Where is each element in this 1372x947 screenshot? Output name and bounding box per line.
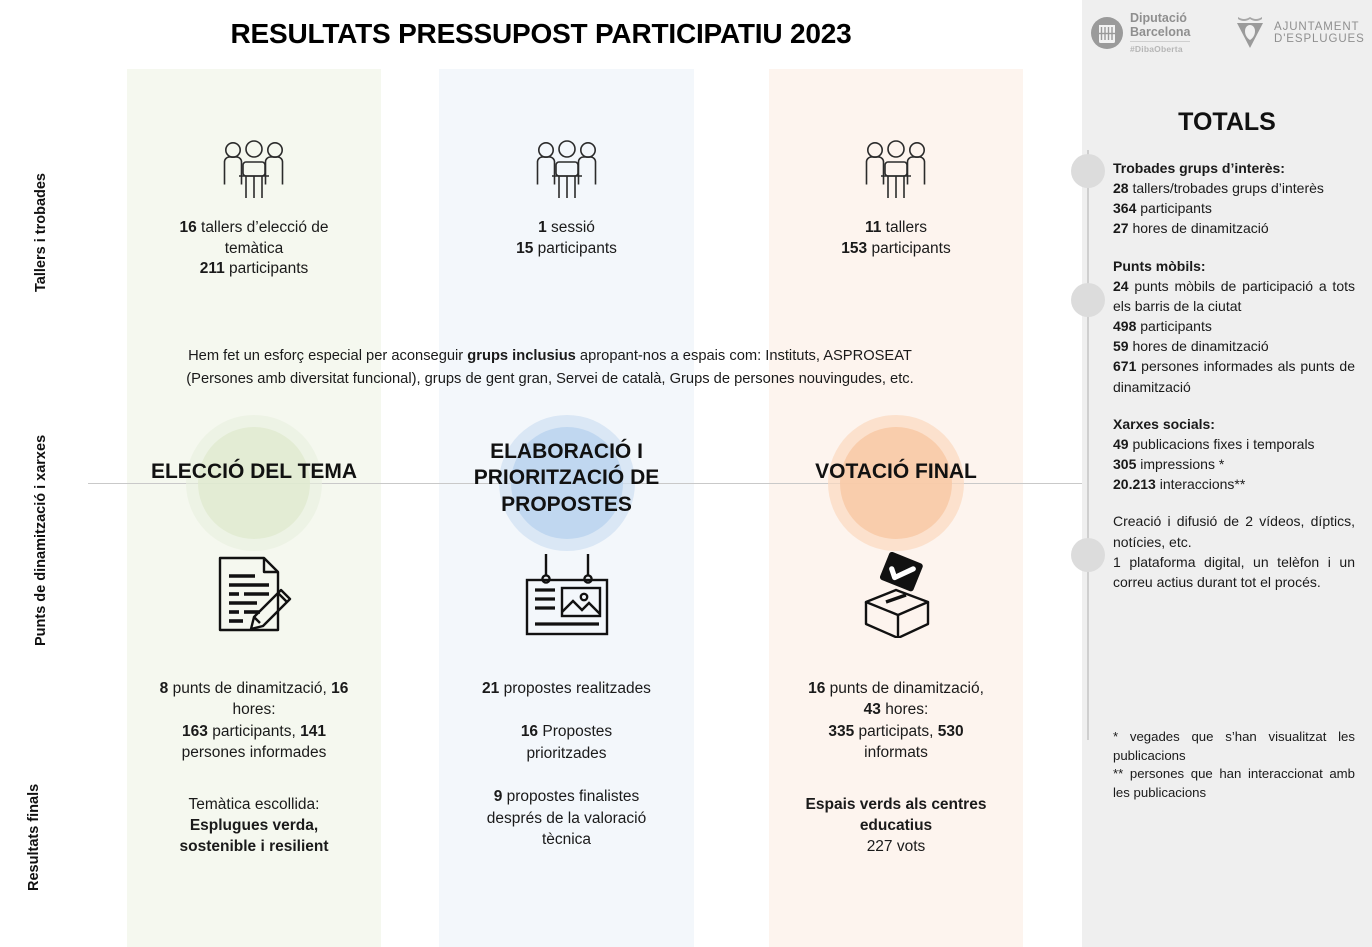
result-label: 227 vots: [867, 838, 926, 855]
result-label: hores:: [232, 701, 275, 718]
totals-block-heading: Xarxes socials:: [1113, 414, 1355, 434]
stage-icon-wrap-elaboracio-propostes: [439, 552, 694, 643]
note-text-pre: Hem fet un esforç especial per aconsegui…: [188, 348, 467, 364]
inclusive-groups-note: Hem fet un esforç especial per aconsegui…: [110, 345, 990, 391]
stage-icon-wrap-votacio-final: [769, 552, 1023, 643]
stage-top-stats-text: 11 tallers 153 participants: [769, 218, 1023, 259]
totals-value: 59: [1113, 338, 1129, 354]
three-people-icon: [532, 140, 602, 204]
result-value: Esplugues verda,: [190, 817, 318, 834]
totals-block-heading: Trobades grups d’interès:: [1113, 158, 1355, 178]
stage-icon-wrap-eleccio-tema: [127, 552, 381, 641]
billboard-image-icon: [521, 552, 613, 638]
totals-title: TOTALS: [1082, 108, 1372, 137]
totals-block-xarxes-socials: Xarxes socials: 49 publicacions fixes i …: [1113, 414, 1355, 495]
totals-line: 59 hores de dinamització: [1113, 336, 1355, 356]
totals-timeline-line: [1087, 150, 1089, 740]
totals-label: publicacions fixes i temporals: [1129, 436, 1315, 452]
footnote-double-asterisk: ** persones que han interaccionat amb le…: [1113, 765, 1355, 802]
result-value: 8: [160, 680, 169, 697]
result-value: 530: [938, 723, 964, 740]
result-label: propostes realitzades: [499, 680, 651, 697]
stage-heading-elaboracio-propostes: ELABORACIÓ I PRIORITZACIÓ DE PROPOSTES: [439, 439, 694, 518]
stat-value: 11: [865, 219, 881, 236]
totals-block-punts-mobils: Punts mòbils: 24 punts mòbils de partici…: [1113, 256, 1355, 397]
result-value: 16: [331, 680, 348, 697]
totals-label: persones informades als punts de dinamit…: [1113, 358, 1355, 394]
stat-label: sessió: [547, 219, 595, 236]
logo-ajuntament-esplugues: AJUNTAMENT D'ESPLUGUES: [1232, 14, 1365, 52]
totals-line: 49 publicacions fixes i temporals: [1113, 434, 1355, 454]
stat-value: 1: [538, 219, 547, 236]
result-label: propostes finalistes: [502, 788, 639, 805]
result-value: 16: [808, 680, 825, 697]
result-label: participants,: [208, 723, 300, 740]
stat-label: participants: [867, 240, 951, 257]
stat-label: participants: [225, 260, 309, 277]
stage-heading-eleccio-tema: ELECCIÓ DEL TEMA: [127, 459, 381, 485]
totals-line: 24 punts mòbils de participació a tots e…: [1113, 276, 1355, 316]
stage-marker-eleccio-tema: ELECCIÓ DEL TEMA: [127, 413, 381, 553]
timeline-dot-3: [1071, 538, 1105, 572]
result-label: Temàtica escollida:: [189, 796, 320, 813]
stage-results-eleccio-tema: 8 punts de dinamització, 16 hores: 163 p…: [127, 678, 381, 858]
footnote-single-asterisk: * vegades que s’han visualitzat les publ…: [1113, 728, 1355, 765]
totals-line: 27 hores de dinamització: [1113, 218, 1355, 238]
totals-value: 305: [1113, 456, 1136, 472]
result-value: 21: [482, 680, 499, 697]
totals-block-difusio: Creació i difusió de 2 vídeos, díptics, …: [1113, 511, 1355, 592]
esplugues-crest-icon: [1232, 14, 1268, 52]
totals-block-heading: Punts mòbils:: [1113, 256, 1355, 276]
stat-value: 153: [841, 240, 867, 257]
totals-label: hores de dinamització: [1129, 338, 1269, 354]
result-value: educatius: [860, 817, 932, 834]
totals-label: tallers/trobades grups d’interès: [1129, 180, 1324, 196]
totals-line: 305 impressions *: [1113, 454, 1355, 474]
totals-line: 20.213 interaccions**: [1113, 474, 1355, 494]
result-value: 43: [864, 701, 881, 718]
note-text-post: apropant-nos a espais com: Instituts, AS…: [576, 348, 912, 364]
totals-value: 49: [1113, 436, 1129, 452]
result-value: Espais verds als centres: [806, 796, 987, 813]
three-people-icon: [861, 140, 931, 204]
logo-line-2: D'ESPLUGUES: [1274, 33, 1365, 45]
row-label-punts-dinamitzacio: Punts de dinamització i xarxes: [33, 410, 50, 670]
timeline-dot-1: [1071, 154, 1105, 188]
spacer: [463, 764, 670, 786]
document-pencil-icon: [210, 552, 298, 636]
logo-tagline: #DibaOberta: [1130, 41, 1190, 54]
totals-label: participants: [1136, 200, 1211, 216]
result-value: 141: [300, 723, 326, 740]
result-value: sostenible i resilient: [179, 838, 328, 855]
totals-value: 28: [1113, 180, 1129, 196]
totals-line: 364 participants: [1113, 198, 1355, 218]
spacer: [793, 764, 999, 794]
stage-marker-elaboracio-propostes: ELABORACIÓ I PRIORITZACIÓ DE PROPOSTES: [439, 413, 694, 553]
result-label: informats: [864, 744, 928, 761]
stage-top-elaboracio-propostes: 1 sessió 15 participants: [439, 140, 694, 259]
stage-marker-votacio-final: VOTACIÓ FINAL: [769, 413, 1023, 553]
totals-label: participants: [1136, 318, 1211, 334]
page-title: RESULTATS PRESSUPOST PARTICIPATIU 2023: [0, 18, 1082, 50]
totals-label: punts mòbils de participació a tots els …: [1113, 278, 1355, 314]
three-people-icon: [219, 140, 289, 204]
totals-label: impressions *: [1136, 456, 1224, 472]
totals-value: 20.213: [1113, 476, 1156, 492]
note-text-line2: (Persones amb diversitat funcional), gru…: [186, 371, 913, 387]
result-value: 335: [828, 723, 854, 740]
spacer: [463, 699, 670, 721]
totals-line: Creació i difusió de 2 vídeos, díptics, …: [1113, 511, 1355, 551]
totals-block-trobades: Trobades grups d’interès: 28 tallers/tro…: [1113, 158, 1355, 239]
logo-line-2: Barcelona: [1130, 26, 1190, 40]
note-text-bold: grups inclusius: [467, 348, 576, 364]
stage-results-votacio-final: 16 punts de dinamització, 43 hores: 335 …: [769, 678, 1023, 858]
stage-top-stats-text: 16 tallers d’elecció de temàtica 211 par…: [127, 218, 381, 280]
totals-line: 1 plataforma digital, un telèfon i un co…: [1113, 552, 1355, 592]
result-label: persones informades: [182, 744, 327, 761]
logo-ajuntament-text: AJUNTAMENT D'ESPLUGUES: [1274, 21, 1365, 46]
stat-label: temàtica: [225, 240, 284, 257]
result-value: 163: [182, 723, 208, 740]
totals-value: 24: [1113, 278, 1129, 294]
result-label: Propostes: [538, 723, 612, 740]
result-label: punts de dinamització,: [168, 680, 331, 697]
stat-label: tallers: [881, 219, 927, 236]
stage-results-elaboracio-propostes: 21 propostes realitzades 16 Propostes pr…: [439, 678, 694, 850]
timeline-dot-2: [1071, 283, 1105, 317]
totals-label: interaccions**: [1156, 476, 1246, 492]
stat-label: tallers d’elecció de: [197, 219, 329, 236]
diputacio-crest-icon: [1090, 16, 1124, 50]
stage-top-votacio-final: 11 tallers 153 participants: [769, 140, 1023, 259]
result-label: participats,: [854, 723, 938, 740]
spacer: [147, 764, 361, 794]
totals-content: Trobades grups d’interès: 28 tallers/tro…: [1113, 158, 1355, 609]
stage-heading-votacio-final: VOTACIÓ FINAL: [769, 459, 1023, 485]
totals-value: 498: [1113, 318, 1136, 334]
totals-line: 671 persones informades als punts de din…: [1113, 356, 1355, 396]
row-label-resultats-finals: Resultats finals: [26, 780, 66, 895]
stage-top-eleccio-tema: 16 tallers d’elecció de temàtica 211 par…: [127, 140, 381, 280]
logo-line-1: AJUNTAMENT: [1274, 21, 1365, 33]
result-label: prioritzades: [526, 745, 606, 762]
result-value: 16: [521, 723, 538, 740]
row-label-tallers-i-trobades: Tallers i trobades: [33, 130, 50, 335]
totals-label: hores de dinamització: [1129, 220, 1269, 236]
stat-value: 15: [516, 240, 533, 257]
result-label: tècnica: [542, 831, 591, 848]
logo-line-1: Diputació: [1130, 12, 1190, 26]
logo-diputacio-barcelona: Diputació Barcelona #DibaOberta: [1090, 12, 1190, 54]
result-label: punts de dinamització,: [825, 680, 984, 697]
stat-label: participants: [533, 240, 617, 257]
logo-diputacio-text: Diputació Barcelona #DibaOberta: [1130, 12, 1190, 54]
totals-line: 498 participants: [1113, 316, 1355, 336]
totals-value: 671: [1113, 358, 1136, 374]
logos-bar: Diputació Barcelona #DibaOberta AJUNTAME…: [1082, 6, 1372, 62]
result-label: hores:: [881, 701, 928, 718]
stat-value: 16: [179, 219, 196, 236]
stat-value: 211: [200, 260, 225, 277]
ballot-box-icon: [850, 552, 942, 638]
stage-top-stats-text: 1 sessió 15 participants: [439, 218, 694, 259]
totals-value: 364: [1113, 200, 1136, 216]
totals-line: 28 tallers/trobades grups d’interès: [1113, 178, 1355, 198]
infographic-page: RESULTATS PRESSUPOST PARTICIPATIU 2023 T…: [0, 0, 1372, 947]
totals-footnotes: * vegades que s’han visualitzat les publ…: [1113, 728, 1355, 803]
totals-value: 27: [1113, 220, 1129, 236]
result-label: després de la valoració: [487, 810, 646, 827]
